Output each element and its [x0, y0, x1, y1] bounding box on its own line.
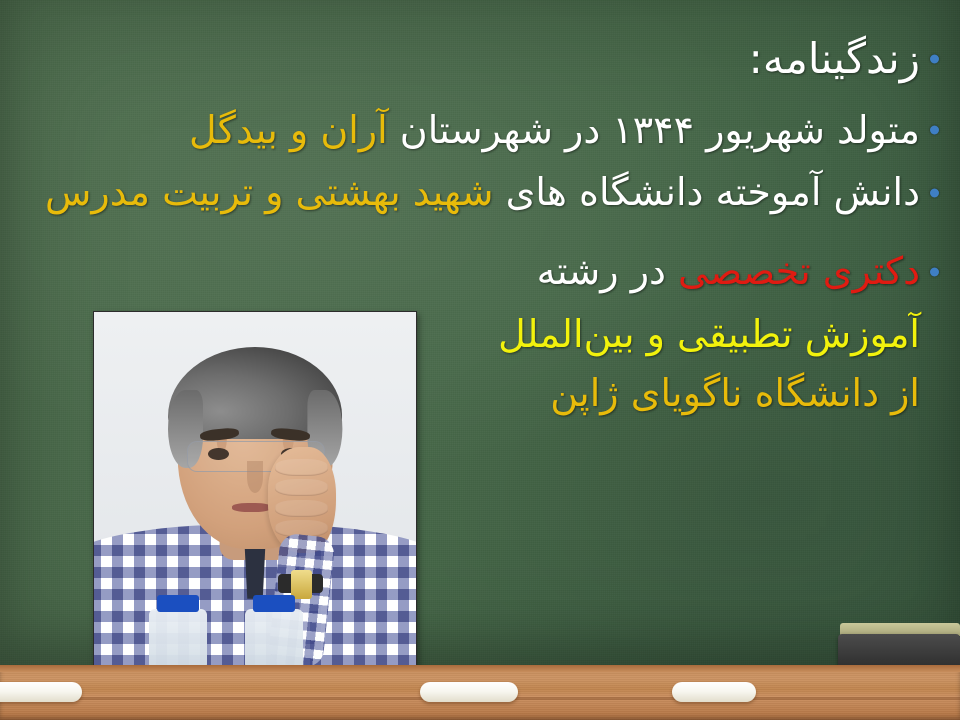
wristwatch [278, 574, 323, 593]
nose [247, 461, 263, 493]
water-bottle-right [245, 609, 303, 666]
line-3-red-text: دکتری تخصصی [678, 249, 920, 293]
portrait-photo [93, 311, 417, 667]
bullet-line-3: دکتری تخصصی در رشته [0, 249, 946, 294]
page-title: زندگینامه: [749, 34, 920, 83]
line-4-yellow-text: آموزش تطبیقی و بین‌الملل [498, 312, 920, 356]
slide-canvas: زندگینامه: متولد شهریور ۱۳۴۴ در شهرستان … [0, 0, 960, 720]
finger [275, 500, 328, 517]
line-1-gold-text: آران و بیدگل [189, 108, 388, 152]
line-2-gold-text: شهید بهشتی و تربیت مدرس [45, 170, 494, 214]
bullet-dot-icon [930, 54, 939, 63]
water-bottle-left [149, 609, 207, 666]
chalkboard-eraser [838, 623, 960, 668]
bullet-line-2: دانش آموخته دانشگاه های شهید بهشتی و ترب… [0, 170, 946, 215]
line-2-white-text: دانش آموخته دانشگاه های [494, 170, 920, 214]
eraser-body [838, 634, 960, 668]
watch-face [291, 570, 312, 599]
finger [275, 459, 328, 476]
finger [275, 479, 328, 496]
mouth [232, 503, 271, 512]
bottle-cap [157, 595, 199, 612]
bullet-dot-icon [930, 267, 939, 276]
line-5-gold-text: از دانشگاه ناگویای ژاپن [550, 371, 920, 415]
bullet-dot-icon [930, 125, 939, 134]
ledge-top-edge [0, 665, 960, 672]
chalk-piece [0, 682, 82, 702]
chalk-piece [672, 682, 756, 702]
bullet-dot-icon [930, 188, 939, 197]
chalk-piece [420, 682, 518, 702]
bottle-cap [253, 595, 295, 612]
slide-title: زندگینامه: [0, 34, 946, 84]
line-1-white-text: متولد شهریور ۱۳۴۴ در شهرستان [388, 108, 920, 152]
line-3-white-text: در رشته [537, 249, 678, 293]
bullet-line-1: متولد شهریور ۱۳۴۴ در شهرستان آران و بیدگ… [0, 108, 946, 153]
